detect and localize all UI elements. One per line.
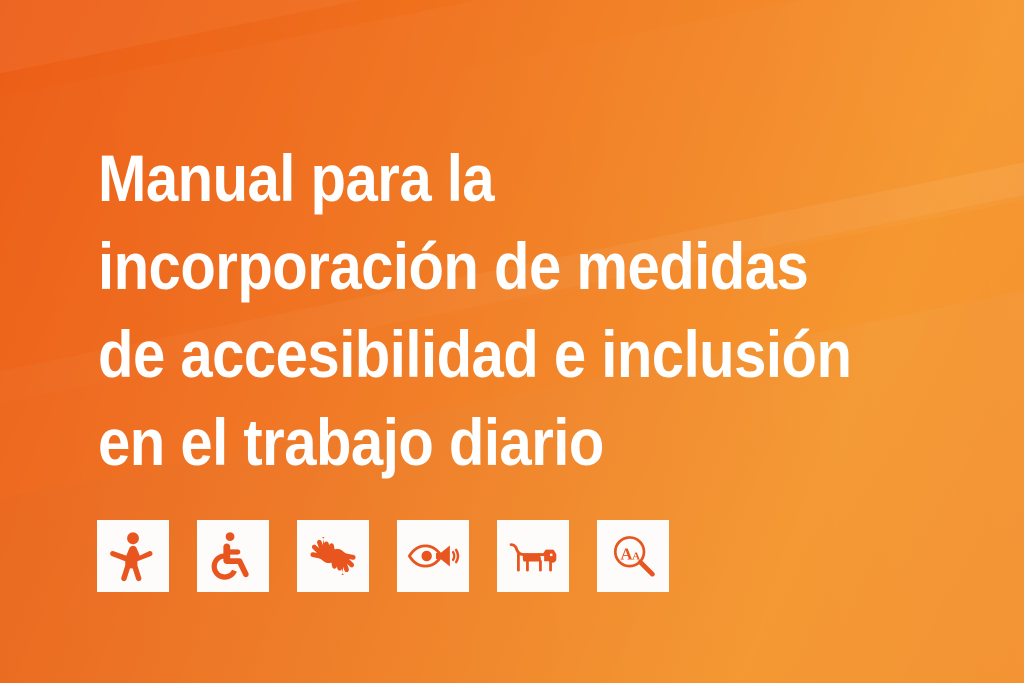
icon-tile-wheelchair (197, 520, 269, 592)
accessibility-icon-strip: A A (97, 520, 669, 592)
sign-language-icon (306, 529, 360, 583)
title-line-4: en el trabajo diario (98, 398, 872, 486)
title-line-1: Manual para la (98, 134, 872, 222)
wheelchair-icon (206, 529, 260, 583)
icon-tile-sign-language (297, 520, 369, 592)
text-magnifier-icon: A A (606, 529, 660, 583)
background-band-1 (0, 0, 1024, 110)
universal-accessibility-icon (106, 529, 160, 583)
cover-page: Manual para la incorporación de medidas … (0, 0, 1024, 683)
svg-text:A: A (632, 550, 640, 562)
title-line-3: de accesibilidad e inclusión (98, 310, 872, 398)
page-title: Manual para la incorporación de medidas … (98, 134, 978, 486)
title-line-2: incorporación de medidas (98, 222, 872, 310)
icon-tile-audio-description (397, 520, 469, 592)
guide-dog-icon (506, 529, 560, 583)
icon-tile-accessibility (97, 520, 169, 592)
icon-tile-text-magnifier: A A (597, 520, 669, 592)
icon-tile-guide-dog (497, 520, 569, 592)
audio-description-icon (406, 529, 460, 583)
